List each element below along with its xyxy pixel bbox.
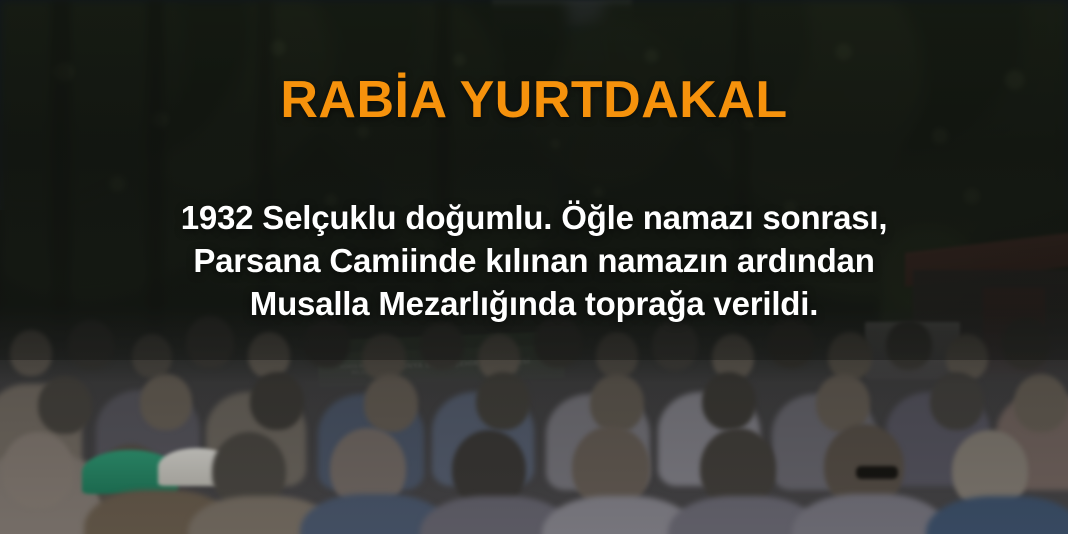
memorial-card: KONYA BÜYÜKŞEHİR BELEDİYESİ KONYA BÜYÜKŞ… [0,0,1068,534]
description-line: Musalla Mezarlığında toprağa verildi. [0,282,1068,325]
description-line: 1932 Selçuklu doğumlu. Öğle namazı sonra… [0,196,1068,239]
description-line: Parsana Camiinde kılınan namazın ardında… [0,239,1068,282]
page-title: RABİA YURTDAKAL [0,74,1068,126]
description-block: 1932 Selçuklu doğumlu. Öğle namazı sonra… [0,196,1068,325]
